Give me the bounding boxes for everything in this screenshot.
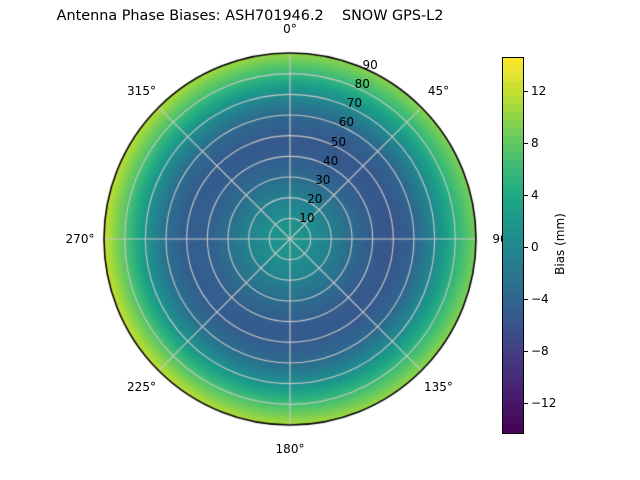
radial-tick-20: 20 bbox=[307, 193, 322, 205]
radial-tick-80: 80 bbox=[355, 78, 370, 90]
angular-tick-45: 45° bbox=[428, 85, 449, 97]
radial-tick-90: 90 bbox=[363, 59, 378, 71]
colorbar-tick-mark bbox=[524, 403, 528, 404]
radial-tick-30: 30 bbox=[315, 174, 330, 186]
angular-tick-180: 180° bbox=[276, 443, 305, 455]
angular-tick-315: 315° bbox=[127, 85, 156, 97]
radial-tick-70: 70 bbox=[347, 97, 362, 109]
radial-tick-40: 40 bbox=[323, 155, 338, 167]
colorbar-tick-mark bbox=[524, 247, 528, 248]
angular-tick-0: 0° bbox=[283, 23, 297, 35]
radial-tick-50: 50 bbox=[331, 136, 346, 148]
colorbar-tick-mark bbox=[524, 299, 528, 300]
colorbar-tick-label: −4 bbox=[531, 292, 549, 306]
colorbar: −12−8−404812 bbox=[502, 57, 522, 432]
colorbar-tick-label: 12 bbox=[531, 84, 546, 98]
colorbar-tick-mark bbox=[524, 195, 528, 196]
colorbar-tick-mark bbox=[524, 91, 528, 92]
colorbar-gradient bbox=[502, 57, 524, 434]
angular-tick-135: 135° bbox=[424, 381, 453, 393]
colorbar-tick-mark bbox=[524, 351, 528, 352]
colorbar-axis-label: Bias (mm) bbox=[553, 213, 567, 275]
radial-tick-60: 60 bbox=[339, 116, 354, 128]
figure-canvas: Antenna Phase Biases: ASH701946.2 SNOW G… bbox=[0, 0, 640, 480]
colorbar-tick-label: 4 bbox=[531, 188, 539, 202]
colorbar-tick-label: 0 bbox=[531, 240, 539, 254]
colorbar-tick-label: −12 bbox=[531, 396, 556, 410]
angular-tick-270: 270° bbox=[66, 233, 95, 245]
colorbar-tick-label: −8 bbox=[531, 344, 549, 358]
colorbar-tick-label: 8 bbox=[531, 136, 539, 150]
colorbar-tick-mark bbox=[524, 143, 528, 144]
angular-tick-225: 225° bbox=[127, 381, 156, 393]
radial-tick-10: 10 bbox=[299, 212, 314, 224]
